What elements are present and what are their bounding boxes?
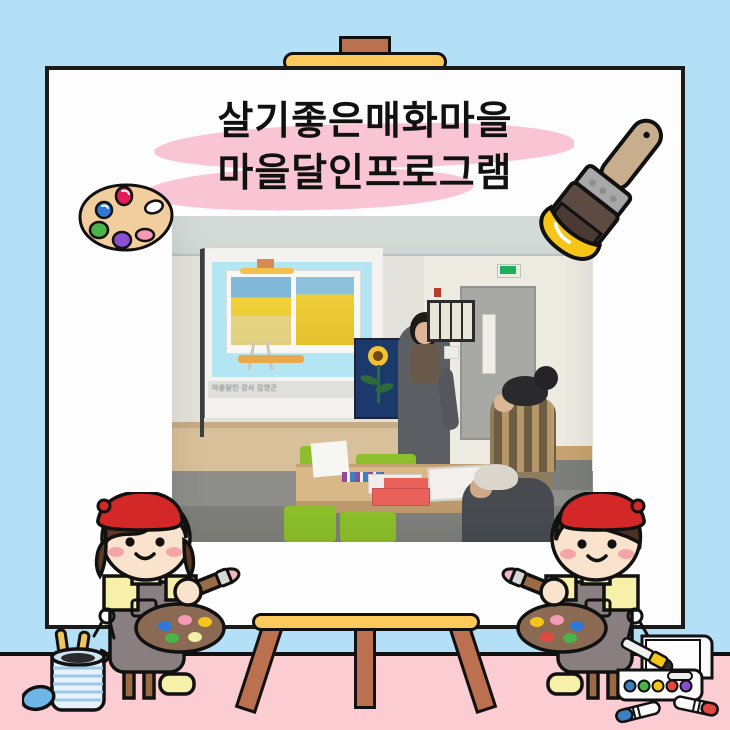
paintbrush-icon (520, 100, 690, 270)
poster-root: 살기좋은매화마을 마을달인프로그램 마을달인 강사 김영곤 (0, 0, 730, 730)
water-cup-icon (22, 612, 132, 722)
easel-bottom-bar (252, 613, 480, 631)
easel-leg-center (354, 625, 376, 709)
watercolor-paint-set-icon (608, 608, 730, 730)
artist-palette-icon (78, 182, 174, 256)
